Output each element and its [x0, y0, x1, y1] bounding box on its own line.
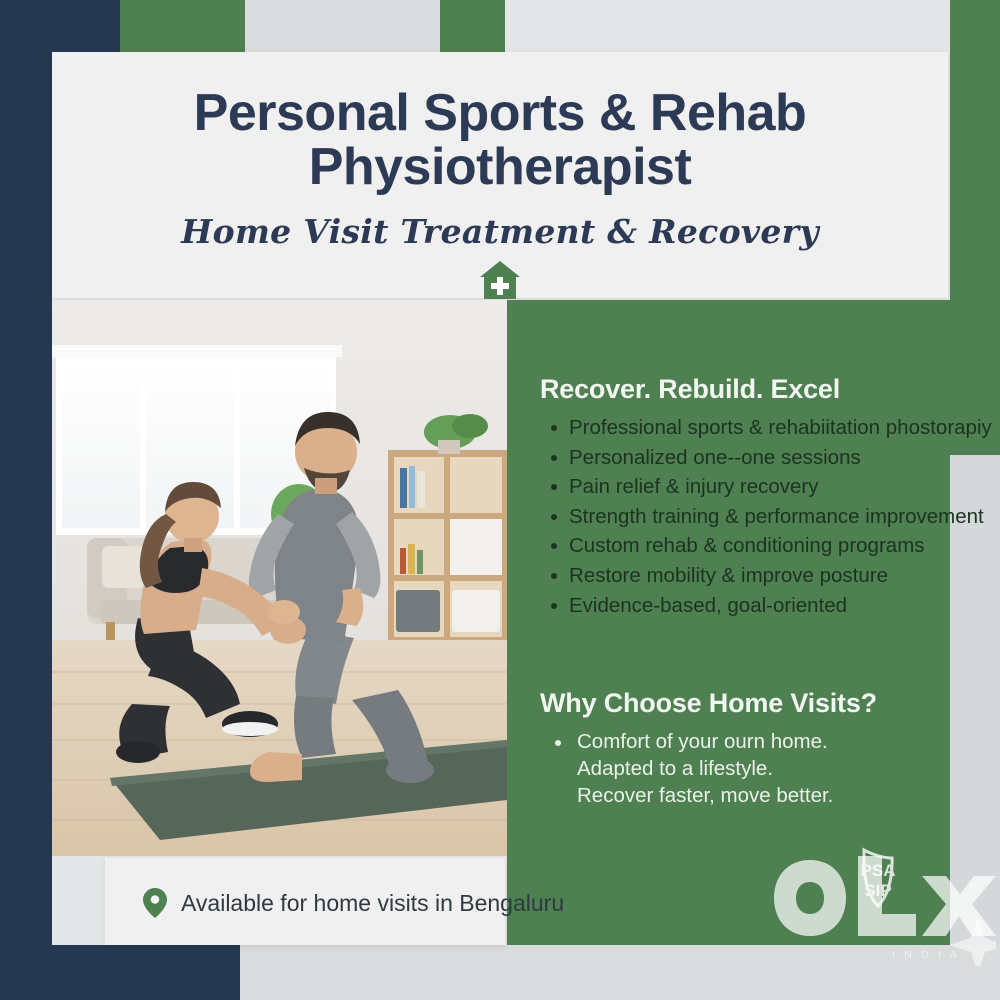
therapy-session-photo: [52, 300, 507, 856]
page-title: Personal Sports & Rehab Physiotherapist: [164, 86, 837, 194]
title-line-1: Personal Sports & Rehab: [194, 84, 807, 142]
list-item: Evidence-based, goal-oriented: [547, 591, 992, 621]
frame-block-green-right: [950, 0, 1000, 455]
list-item: Strength training & performance improvem…: [547, 502, 992, 532]
frame-block-green-top-2: [440, 0, 505, 52]
home-visit-line-3: Recover faster, move better.: [577, 782, 833, 809]
benefits-list: Professional sports & rehabiitation phos…: [547, 413, 992, 620]
frame-block-green-top: [120, 0, 245, 52]
poster-canvas: Personal Sports & Rehab Physiotherapist …: [0, 0, 1000, 1000]
frame-block-navy-left: [0, 0, 52, 1000]
footer-location-text: Available for home visits in Bengaluru: [181, 890, 564, 917]
footer-inner: Available for home visits in Bengaluru: [143, 888, 564, 918]
list-item: Professional sports & rehabiitation phos…: [547, 413, 992, 443]
frame-block-navy-top: [0, 0, 120, 52]
green-content-panel: Recover. Rebuild. Excel Professional spo…: [507, 300, 950, 945]
frame-block-gray-bottom: [240, 945, 1000, 1000]
home-visits-list: Comfort of your ourn home. Adapted to a …: [547, 728, 833, 809]
section-heading-recover: Recover. Rebuild. Excel: [540, 374, 840, 405]
frame-block-gray-top: [245, 0, 440, 52]
poster-header: Personal Sports & Rehab Physiotherapist …: [52, 52, 948, 298]
map-pin-icon: [143, 888, 167, 918]
list-item: Personalized one--one sessions: [547, 443, 992, 473]
list-item: Pain relief & injury recovery: [547, 472, 992, 502]
title-line-2: Physiotherapist: [309, 138, 692, 196]
home-visit-line-2: Adapted to a lifestyle.: [577, 755, 833, 782]
frame-block-navy-bottom: [0, 945, 240, 1000]
home-visit-line-1: Comfort of your ourn home.: [577, 728, 833, 755]
list-item: Comfort of your ourn home. Adapted to a …: [547, 728, 833, 809]
footer-location-bar: Available for home visits in Bengaluru: [105, 858, 505, 945]
list-item: Restore mobility & improve posture: [547, 561, 992, 591]
house-medical-icon: [478, 259, 522, 301]
list-item: Custom rehab & conditioning programs: [547, 531, 992, 561]
page-subtitle: Home Visit Treatment & Recovery: [181, 212, 819, 251]
section-heading-why-home-visits: Why Choose Home Visits?: [540, 688, 877, 719]
